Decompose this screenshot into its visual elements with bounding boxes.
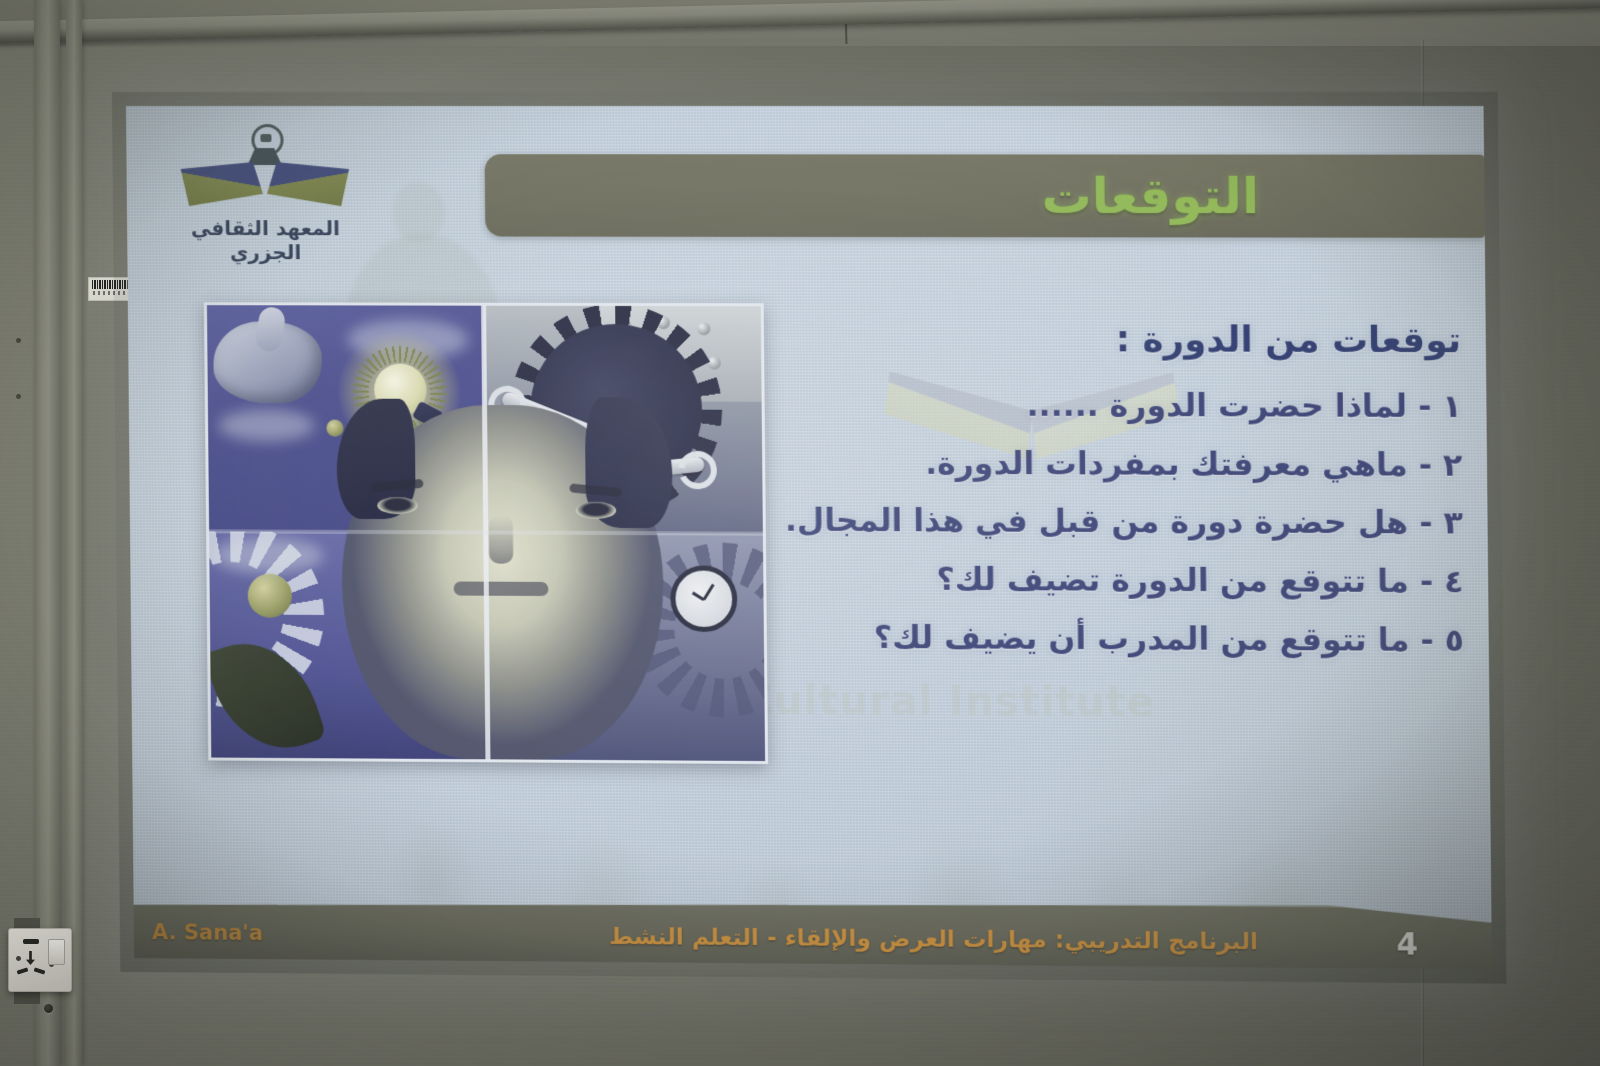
photo-vignette	[0, 0, 1600, 1066]
classroom-photo-scene: Cultural Institute التوقعات المعهد الثقا…	[0, 0, 1600, 1066]
